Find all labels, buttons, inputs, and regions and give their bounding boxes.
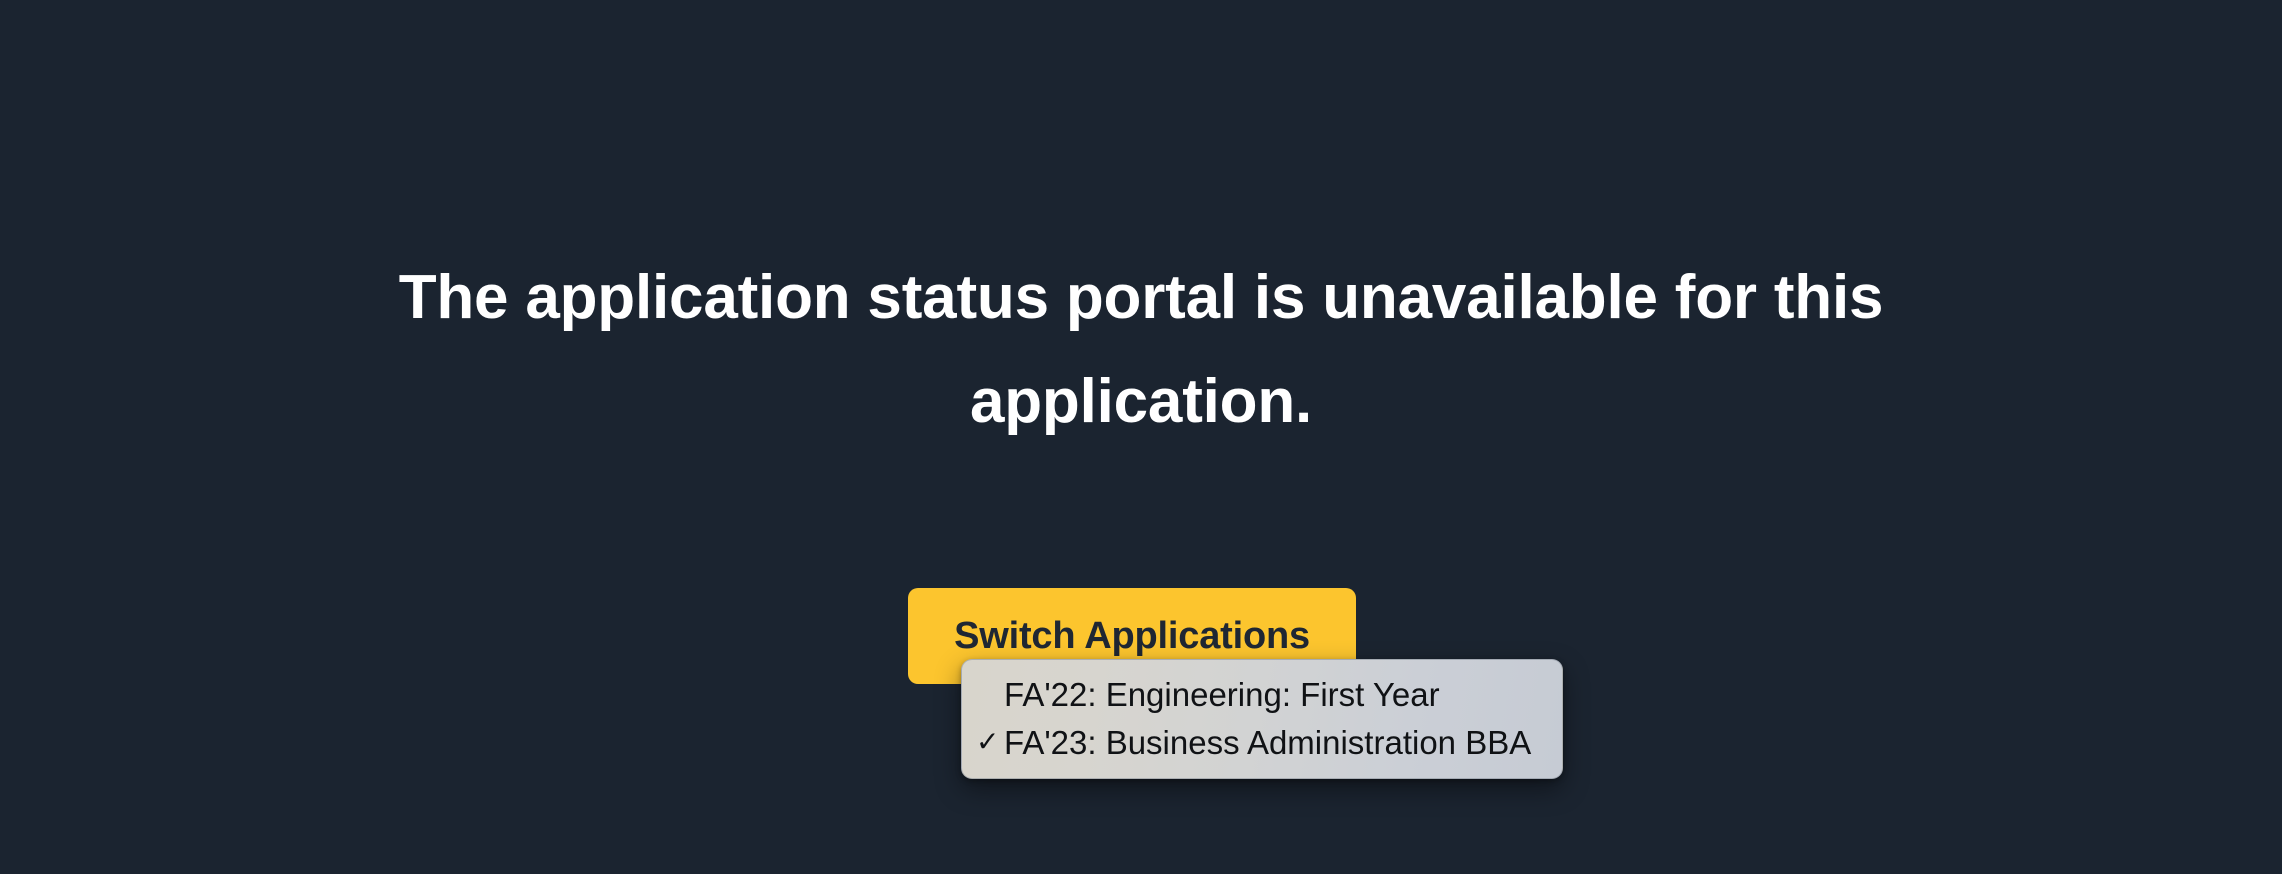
menu-item-label: FA'23: Business Administration BBA — [1004, 726, 1531, 759]
page-root: The application status portal is unavail… — [0, 0, 2282, 874]
status-message-block: The application status portal is unavail… — [0, 246, 2282, 454]
application-select-menu[interactable]: FA'22: Engineering: First Year ✓ FA'23: … — [961, 659, 1563, 779]
menu-item-label: FA'22: Engineering: First Year — [1004, 678, 1440, 711]
checkmark-icon: ✓ — [976, 728, 1004, 756]
switch-applications-button-label: Switch Applications — [954, 615, 1310, 658]
menu-item-application-2[interactable]: ✓ FA'23: Business Administration BBA — [962, 718, 1562, 766]
menu-item-application-1[interactable]: FA'22: Engineering: First Year — [962, 670, 1562, 718]
page-title: The application status portal is unavail… — [331, 246, 1951, 454]
